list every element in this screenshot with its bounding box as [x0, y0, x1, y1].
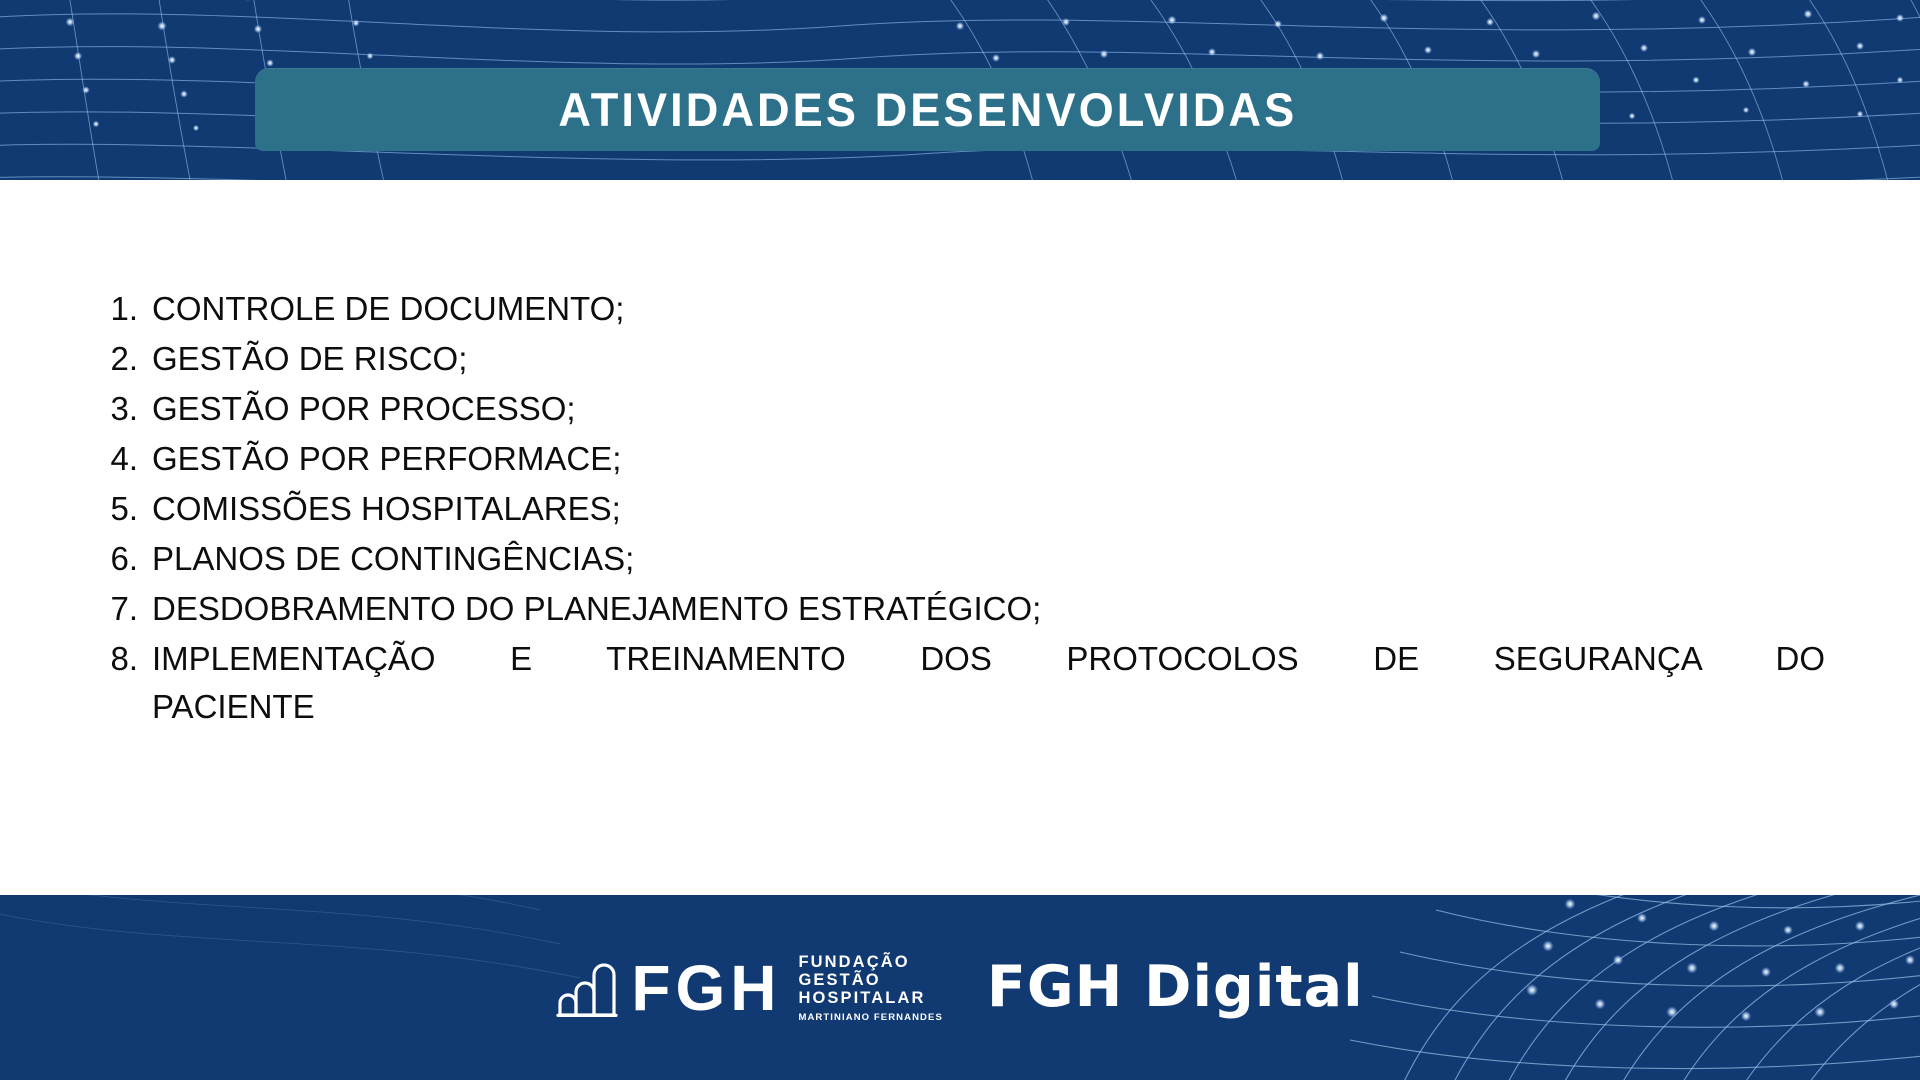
list-item-label: GESTÃO DE RISCO; [152, 335, 1825, 383]
content-panel: 1. CONTROLE DE DOCUMENTO; 2. GESTÃO DE R… [0, 180, 1920, 895]
page-title: ATIVIDADES DESENVOLVIDAS [558, 82, 1297, 137]
list-item: 8. IMPLEMENTAÇÃO E TREINAMENTO DOS PROTO… [95, 635, 1825, 731]
list-item-label: GESTÃO POR PERFORMACE; [152, 435, 1825, 483]
list-item-number: 1. [95, 285, 152, 333]
list-item: 3. GESTÃO POR PROCESSO; [95, 385, 1825, 433]
list-item-label: PLANOS DE CONTINGÊNCIAS; [152, 535, 1825, 583]
fgh-wordmark: FGH [631, 956, 781, 1020]
list-item-number: 3. [95, 385, 152, 433]
list-item-label: DESDOBRAMENTO DO PLANEJAMENTO ESTRATÉGIC… [152, 585, 1825, 633]
list-item-label: GESTÃO POR PROCESSO; [152, 385, 1825, 433]
list-item: 5. COMISSÕES HOSPITALARES; [95, 485, 1825, 533]
fgh-tagline-line3: HOSPITALAR [798, 989, 942, 1007]
list-item: 1. CONTROLE DE DOCUMENTO; [95, 285, 1825, 333]
list-item-label-line2: PACIENTE [152, 683, 1825, 731]
list-item-number: 8. [95, 635, 152, 683]
fgh-digital-wordmark: FGH Digital [987, 959, 1364, 1016]
footer-logo-group: FGH FUNDAÇÃO GESTÃO HOSPITALAR MARTINIAN… [0, 895, 1920, 1080]
fgh-tagline-line1: FUNDAÇÃO [798, 953, 942, 971]
list-item: 7. DESDOBRAMENTO DO PLANEJAMENTO ESTRATÉ… [95, 585, 1825, 633]
footer-bar: FGH FUNDAÇÃO GESTÃO HOSPITALAR MARTINIAN… [0, 895, 1920, 1080]
fgh-tagline-sub: MARTINIANO FERNANDES [798, 1010, 942, 1025]
list-item: 4. GESTÃO POR PERFORMACE; [95, 435, 1825, 483]
list-item-number: 6. [95, 535, 152, 583]
title-banner: ATIVIDADES DESENVOLVIDAS [255, 68, 1600, 151]
list-item-number: 7. [95, 585, 152, 633]
fgh-logo: FGH FUNDAÇÃO GESTÃO HOSPITALAR MARTINIAN… [556, 950, 943, 1025]
list-item-number: 2. [95, 335, 152, 383]
fgh-tagline: FUNDAÇÃO GESTÃO HOSPITALAR MARTINIANO FE… [798, 950, 942, 1025]
list-item: 6. PLANOS DE CONTINGÊNCIAS; [95, 535, 1825, 583]
list-item-number: 4. [95, 435, 152, 483]
hospital-building-icon [556, 959, 618, 1017]
list-item-label: IMPLEMENTAÇÃO E TREINAMENTO DOS PROTOCOL… [152, 635, 1825, 731]
list-item: 2. GESTÃO DE RISCO; [95, 335, 1825, 383]
activities-list: 1. CONTROLE DE DOCUMENTO; 2. GESTÃO DE R… [95, 285, 1825, 733]
slide-canvas: ATIVIDADES DESENVOLVIDAS 1. CONTROLE DE … [0, 0, 1920, 1080]
list-item-label: CONTROLE DE DOCUMENTO; [152, 285, 1825, 333]
list-item-label: COMISSÕES HOSPITALARES; [152, 485, 1825, 533]
list-item-number: 5. [95, 485, 152, 533]
list-item-label-line1: IMPLEMENTAÇÃO E TREINAMENTO DOS PROTOCOL… [152, 635, 1825, 683]
fgh-tagline-line2: GESTÃO [798, 971, 942, 989]
